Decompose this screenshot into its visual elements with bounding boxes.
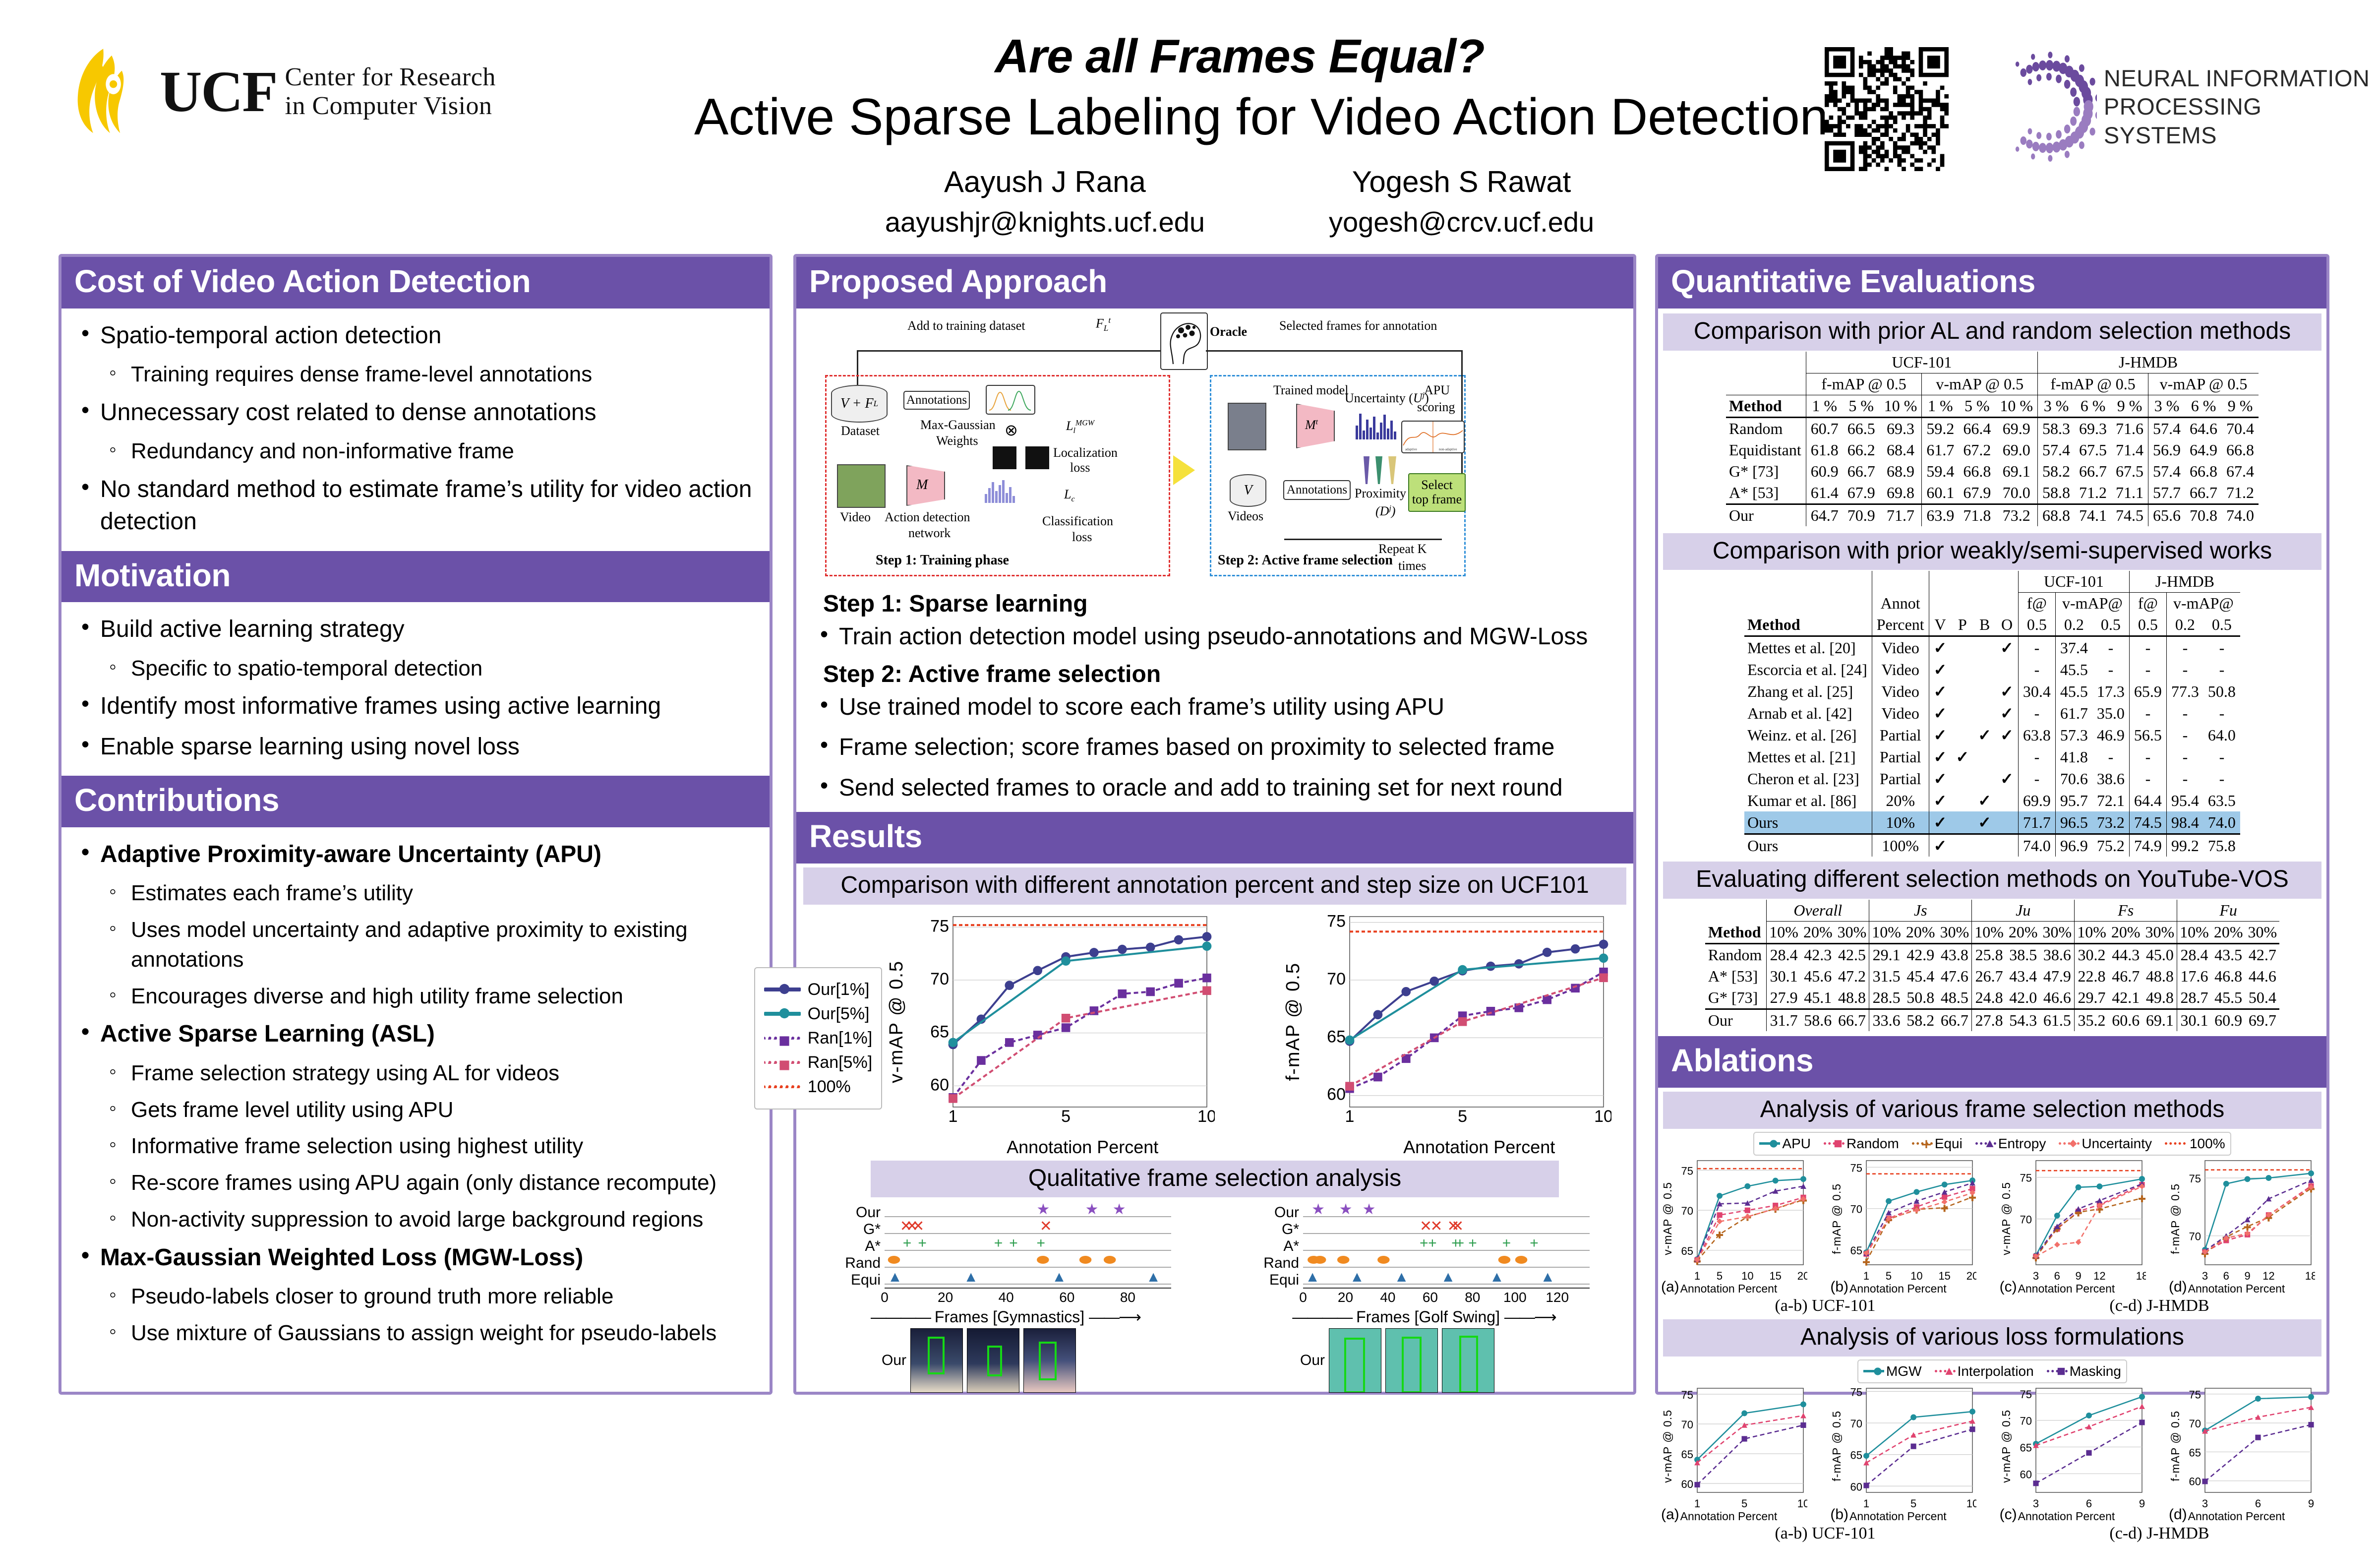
svg-text:3: 3	[2202, 1270, 2208, 1281]
author-1: Aayush J Rana aayushjr@knights.ucf.edu	[885, 165, 1205, 238]
qual-row-label: Equi	[1255, 1272, 1299, 1289]
diagram-lc-label: Lc	[1064, 487, 1075, 504]
diagram-top-frame-label: top frame	[1412, 493, 1462, 507]
qual-left-xlabel: ———— Frames [Gymnastics] ——⟶	[837, 1307, 1174, 1326]
th-threshold: 0.5	[2092, 614, 2130, 636]
table-row: Equidistant61.866.268.461.767.269.057.46…	[1726, 439, 2259, 461]
cell-value: -	[2129, 702, 2166, 724]
th-percent: 3 %	[2148, 395, 2186, 417]
cell-flag	[1996, 659, 2018, 680]
qual-left-thumbs: Our	[882, 1328, 1174, 1393]
th-percent: 10%	[1869, 922, 1904, 944]
section-header-results: Results	[796, 812, 1633, 864]
bullet-item: Use trained model to score each frame’s …	[815, 691, 1624, 723]
cell-value: 17.3	[2092, 680, 2130, 702]
cell-flag	[1973, 768, 1996, 790]
bullet-item: No standard method to estimate frame’s u…	[76, 473, 755, 538]
cell-method: G* [73]	[1705, 987, 1767, 1009]
qual-marker: +	[1009, 1236, 1018, 1251]
cell-method: Escorcia et al. [24]	[1744, 659, 1872, 680]
poster-subtitle-question: Are all Frames Equal?	[694, 30, 1785, 83]
cell-value: 58.8	[2038, 482, 2075, 504]
cell-value: -	[2166, 702, 2203, 724]
author-1-name: Aayush J Rana	[885, 165, 1205, 199]
cell-value: 64.9	[2185, 439, 2222, 461]
th-percent: 30%	[1938, 922, 1972, 944]
diagram-tensor-product-icon: ⊗	[1005, 421, 1018, 439]
table-prior-al-host: UCF-101 J-HMDBf-mAP @ 0.5v-mAP @ 0.5f-mA…	[1658, 352, 2326, 526]
cell-value: 67.2	[1959, 439, 1995, 461]
approach-diagram: Add to training dataset FLt Oracle Selec…	[818, 315, 1611, 583]
svg-text:1: 1	[1345, 1107, 1355, 1126]
svg-text:9: 9	[2244, 1270, 2250, 1281]
cell-value: 43.4	[2006, 966, 2040, 987]
step2-title: Step 2: Active frame selection	[823, 661, 1624, 688]
diagram-localization-label: Localization	[1053, 445, 1118, 460]
step2-bullet-list: Use trained model to score each frame’s …	[815, 691, 1624, 804]
th-percent: 10%	[2075, 922, 2109, 944]
svg-text:70: 70	[2020, 1415, 2031, 1427]
th-group: Js	[1869, 900, 1972, 922]
th-threshold: 0.5	[2203, 614, 2240, 636]
qr-code-icon[interactable]	[1825, 47, 1949, 171]
ucf-pegasus-icon	[64, 45, 149, 139]
legend-entry: 100%	[764, 1077, 872, 1097]
cell-value: 42.3	[1801, 944, 1835, 966]
ablation-xlabel: Annotation Percent	[2018, 1282, 2115, 1296]
qual-x-tick: 20	[1338, 1290, 1353, 1305]
svg-text:10: 10	[1197, 1107, 1215, 1126]
th-metric: f-mAP @ 0.5	[1806, 373, 1922, 395]
ablation-ylabel: v-mAP @ 0.5	[1661, 1182, 1674, 1255]
ablation-tag: (b)	[1830, 1279, 1848, 1296]
th-percent-label: Percent	[1872, 614, 1929, 636]
legend-entry: APU	[1759, 1136, 1811, 1152]
cell-value: -	[2018, 636, 2055, 659]
cell-value: 66.5	[1843, 417, 1880, 439]
table-row: Ours 10%✓✓71.796.573.274.598.474.0	[1744, 811, 2240, 834]
table-row: A* [53]30.145.647.231.545.447.626.743.44…	[1705, 966, 2279, 987]
ucf-tagline-1: Center for Research	[285, 63, 496, 92]
bullet-item: Max-Gaussian Weighted Loss (MGW-Loss)	[76, 1241, 755, 1274]
table-row: Our64.770.971.763.971.873.268.874.174.56…	[1726, 504, 2259, 526]
qual-marker: ⬬	[888, 1253, 900, 1268]
diagram-v-cylinder: V	[1230, 474, 1266, 507]
cell-value: 60.1	[1922, 482, 1959, 504]
svg-text:75: 75	[2020, 1388, 2031, 1400]
cell-flag	[1951, 834, 1973, 857]
ablation-row-selection: v-mAP @ 0.5 65707515101520 (a) Annotatio…	[1658, 1157, 2326, 1296]
svg-text:5: 5	[1741, 1497, 1747, 1508]
cell-value: 56.5	[2129, 724, 2166, 746]
cell-value: -	[2203, 636, 2240, 659]
cell-value: 69.7	[2245, 1009, 2279, 1032]
svg-text:65: 65	[1850, 1244, 1862, 1257]
cell-value: 67.9	[1959, 482, 1995, 504]
qual-marker: ▲	[1305, 1270, 1320, 1285]
cell-value: 69.9	[1995, 417, 2037, 439]
svg-text:15: 15	[1939, 1270, 1951, 1281]
qual-x-tick: 0	[881, 1290, 889, 1305]
svg-text:3: 3	[2033, 1497, 2039, 1508]
chart-vmap-container: v-mAP @ 0.5 606570751510 Annotation Perc…	[886, 908, 1279, 1158]
cell-value: 71.1	[2111, 482, 2148, 504]
th-annot: Annot	[1872, 593, 1929, 615]
cell-annot-percent: 100%	[1872, 834, 1929, 857]
cell-value: 69.1	[2143, 1009, 2177, 1032]
svg-text:1: 1	[1694, 1270, 1700, 1281]
svg-text:75: 75	[1850, 1162, 1862, 1174]
cell-value: 57.4	[2148, 461, 2186, 482]
table-row: Arnab et al. [42] Video✓✓-61.735.0---	[1744, 702, 2240, 724]
th-percent: 1 %	[1922, 395, 1959, 417]
cell-value: 66.7	[2185, 482, 2222, 504]
diagram-fl-label: FLt	[1096, 315, 1111, 333]
diagram-dataset-label: Dataset	[841, 424, 880, 438]
section-body-contributions: Adaptive Proximity-aware Uncertainty (AP…	[61, 827, 770, 1360]
diagram-selected-frames-label: Selected frames for annotation	[1279, 318, 1437, 333]
middle-column: Proposed Approach Add to training datase…	[793, 254, 1636, 1395]
qual-marker: ⬬	[1037, 1253, 1050, 1268]
cell-method: Cheron et al. [23]	[1744, 768, 1872, 790]
ablation-captions-2: (a-b) UCF-101 (c-d) J-HMDB	[1658, 1524, 2326, 1543]
qual-thumb	[1442, 1328, 1494, 1393]
cell-flag: ✓	[1996, 636, 2018, 659]
qual-row-label: G*	[837, 1221, 881, 1238]
legend-entry: 100%	[2165, 1136, 2225, 1152]
cell-value: 59.2	[1922, 417, 1959, 439]
qual-x-tick: 0	[1299, 1290, 1307, 1305]
cell-value: 24.8	[1972, 987, 2006, 1009]
cell-value: 69.3	[2075, 417, 2111, 439]
cell-value: 71.7	[1880, 504, 1922, 526]
cell-value: 46.8	[2211, 966, 2246, 987]
ablation-row-loss: v-mAP @ 0.5 606570751510 (a) Annotation …	[1658, 1384, 2326, 1523]
diagram-flow-arrow	[1173, 455, 1195, 485]
cell-flag: ✓	[1929, 680, 1951, 702]
bullet-item: Enable sparse learning using novel loss	[76, 731, 755, 763]
section-header-motivation: Motivation	[61, 551, 770, 603]
cell-value: 74.5	[2111, 504, 2148, 526]
cell-method: Mettes et al. [20]	[1744, 636, 1872, 659]
cell-value: 29.1	[1869, 944, 1904, 966]
bullet-item: Re-score frames using APU again (only di…	[76, 1168, 755, 1198]
cell-flag: ✓	[1996, 680, 2018, 702]
cell-value: 64.7	[1806, 504, 1843, 526]
cell-value: 74.0	[2018, 834, 2055, 857]
diagram-dataset-cylinder: V + FL	[831, 385, 888, 423]
chart-fmap: 606570751510	[1304, 908, 1611, 1136]
neurips-line-2: PROCESSING SYSTEMS	[2104, 92, 2380, 149]
cell-flag: ✓	[1973, 811, 1996, 834]
svg-text:75: 75	[2189, 1173, 2201, 1185]
cell-flag: ✓	[1996, 768, 2018, 790]
ablation-plot: 70753691218	[2182, 1157, 2315, 1281]
qual-marker: ▲	[963, 1270, 978, 1285]
ablation-ylabel: f-mAP @ 0.5	[1830, 1411, 1844, 1481]
svg-text:12: 12	[2093, 1270, 2105, 1281]
th-threshold: 0.5	[2018, 614, 2055, 636]
svg-text:70: 70	[1850, 1203, 1862, 1216]
bullet-item: Uses model uncertainty and adaptive prox…	[76, 915, 755, 975]
svg-text:10: 10	[1910, 1270, 1922, 1281]
qual-row-label: Rand	[837, 1255, 881, 1272]
qualitative-plot-golfswing: Our★★★G*✕✕✕✕A*+++++++Rand⬬⬬⬬⬬⬬⬬Equi▲▲▲▲▲…	[1255, 1198, 1593, 1309]
svg-text:10: 10	[1797, 1497, 1807, 1508]
qual-row-label: Our	[837, 1204, 881, 1221]
cell-value: 60.7	[1806, 417, 1843, 439]
table-row: Annot f@v-mAP@ f@v-mAP@	[1744, 593, 2240, 615]
cell-value: 54.3	[2006, 1009, 2040, 1032]
th-percent: 30%	[2040, 922, 2075, 944]
legend-label: Interpolation	[1958, 1363, 2034, 1379]
cell-value: 63.9	[1922, 504, 1959, 526]
cell-value: 26.7	[1972, 966, 2006, 987]
qual-marker: ★	[1113, 1202, 1126, 1217]
cell-value: 67.9	[1843, 482, 1880, 504]
cell-value: 27.9	[1767, 987, 1801, 1009]
cell-value: 45.4	[1904, 966, 1938, 987]
qual-marker: ▲	[1394, 1270, 1409, 1285]
poster-title: Active Sparse Labeling for Video Action …	[694, 86, 1785, 148]
cell-value: 28.4	[1767, 944, 1801, 966]
diagram-lmgw-label: LlMGW	[1066, 419, 1094, 435]
contributions-bullet-list: Adaptive Proximity-aware Uncertainty (AP…	[76, 838, 755, 1348]
cell-flag	[1951, 790, 1973, 811]
cell-value: 37.4	[2055, 636, 2092, 659]
bullet-item: Training requires dense frame-level anno…	[76, 360, 755, 389]
svg-text:5: 5	[1910, 1497, 1916, 1508]
cell-value: 65.9	[2129, 680, 2166, 702]
svg-text:70: 70	[930, 970, 949, 988]
diagram-videos-label: Videos	[1228, 509, 1263, 524]
cell-value: 74.9	[2129, 834, 2166, 857]
cell-value: -	[2092, 636, 2130, 659]
table-weakly-semi-host: UCF-101 J-HMDBAnnot f@v-mAP@ f@v-mAP@Met…	[1658, 571, 2326, 857]
svg-text:65: 65	[1681, 1448, 1693, 1461]
cell-value: 70.9	[1843, 504, 1880, 526]
cell-value: 50.8	[2203, 680, 2240, 702]
diagram-video-label: Video	[840, 510, 871, 525]
qual-marker: ▲	[1052, 1270, 1067, 1285]
svg-text:18: 18	[2305, 1270, 2315, 1281]
ablation-legend-loss: MGW Interpolation Masking	[1857, 1359, 2127, 1383]
bullet-item: Encourages diverse and high utility fram…	[76, 982, 755, 1011]
diagram-model-m-label: M	[916, 477, 928, 493]
legend-entry: Masking	[2047, 1363, 2121, 1379]
th-metric: v-mAP @ 0.5	[1922, 373, 2038, 395]
cell-value: 44.3	[2109, 944, 2143, 966]
th-threshold: 0.5	[2129, 614, 2166, 636]
cell-value: 44.6	[2245, 966, 2279, 987]
cell-flag	[1973, 680, 1996, 702]
legend-entry: Equi	[1912, 1136, 1963, 1152]
ablation-tag: (d)	[2169, 1279, 2187, 1296]
ablation-panel: f-mAP @ 0.5 606570751510 (b) Annotation …	[1830, 1384, 1985, 1523]
svg-text:70: 70	[1681, 1419, 1693, 1431]
neurips-line-1: NEURAL INFORMATION	[2104, 64, 2380, 92]
th-metric: v-mAP@	[2166, 593, 2240, 615]
svg-text:65: 65	[1327, 1027, 1346, 1046]
th-group: Fu	[2177, 900, 2279, 922]
qual-row-label: Equi	[837, 1272, 881, 1289]
ablation-panel: v-mAP @ 0.5 60657075369 (c) Annotation P…	[2000, 1384, 2154, 1523]
cell-value: 96.9	[2055, 834, 2092, 857]
bullet-item: Send selected frames to oracle and add t…	[815, 772, 1624, 804]
qual-right-thumbs: Our	[1300, 1328, 1593, 1393]
ablation-panel: f-mAP @ 0.5 65707515101520 (b) Annotatio…	[1830, 1157, 1985, 1296]
legend-entry: Ran[5%]	[764, 1053, 872, 1072]
motivation-bullet-list: Build active learning strategySpecific t…	[76, 613, 755, 763]
cell-method: A* [53]	[1705, 966, 1767, 987]
svg-text:10: 10	[1594, 1107, 1611, 1126]
cell-value: 69.3	[1880, 417, 1922, 439]
qual-row-line	[885, 1267, 1171, 1268]
qual-marker: ▲	[1441, 1270, 1456, 1285]
cell-value: 67.5	[2075, 439, 2111, 461]
th-method: Method	[1726, 395, 1806, 417]
cell-value: 50.4	[2245, 987, 2279, 1009]
cell-annot-percent: 10%	[1872, 811, 1929, 834]
bullet-item: Spatio-temporal action detection	[76, 319, 755, 352]
ucf-abbr: UCF	[160, 65, 277, 119]
cell-value: 30.1	[1767, 966, 1801, 987]
ablation-tag: (c)	[2000, 1279, 2017, 1296]
cell-value: 66.2	[1843, 439, 1880, 461]
diagram-class-hist-icon	[985, 479, 1015, 503]
cell-flag: ✓	[1996, 724, 2018, 746]
svg-text:20: 20	[1966, 1270, 1976, 1281]
ablation-panel: v-mAP @ 0.5 70753691218 (c) Annotation P…	[2000, 1157, 2154, 1296]
cell-value: -	[2129, 746, 2166, 768]
cell-value: 71.8	[1959, 504, 1995, 526]
qual-row-label: G*	[1255, 1221, 1299, 1238]
svg-text:1: 1	[1863, 1270, 1869, 1281]
qual-marker: +	[1037, 1236, 1046, 1251]
cell-value: 70.6	[2055, 768, 2092, 790]
ablation-plot: 60657075369	[2013, 1384, 2146, 1508]
cell-value: 43.8	[1938, 944, 1972, 966]
svg-text:3: 3	[2033, 1270, 2039, 1281]
diagram-uncertainty-label: Uncertainty (Uj)	[1345, 391, 1429, 406]
qual-marker: +	[994, 1236, 1003, 1251]
title-block: Are all Frames Equal? Active Sparse Labe…	[694, 30, 1785, 238]
cost-bullet-list: Spatio-temporal action detectionTraining…	[76, 319, 755, 538]
cell-flag	[1951, 724, 1973, 746]
th-percent: 6 %	[2075, 395, 2111, 417]
results-chart-row: Our[1%] Our[5%] Ran[1%] Ran[5%] 100% v-m…	[796, 908, 1633, 1158]
qual-x-tick: 40	[999, 1290, 1014, 1305]
cell-flag	[1973, 702, 1996, 724]
ablation-ylabel: f-mAP @ 0.5	[2169, 1183, 2182, 1254]
cell-value: 60.9	[1806, 461, 1843, 482]
cell-value: 25.8	[1972, 944, 2006, 966]
caption-cd-2: (c-d) J-HMDB	[1992, 1524, 2326, 1543]
svg-text:60: 60	[930, 1075, 949, 1094]
table-row: Random60.766.569.359.266.469.958.369.371…	[1726, 417, 2259, 439]
svg-text:6: 6	[2255, 1497, 2261, 1508]
qual-marker: ★	[1037, 1202, 1050, 1217]
bullet-item: Identify most informative frames using a…	[76, 690, 755, 722]
qual-row-label: A*	[1255, 1238, 1299, 1255]
diagram-repeat-wire	[1284, 539, 1442, 540]
cell-value: 30.1	[2177, 1009, 2211, 1032]
cell-value: 61.8	[1806, 439, 1843, 461]
ablation-xlabel: Annotation Percent	[1680, 1510, 1778, 1523]
cell-flag	[1951, 702, 1973, 724]
cell-value: -	[2092, 659, 2130, 680]
author-2-email[interactable]: yogesh@crcv.ucf.edu	[1329, 206, 1594, 238]
legend-entry: Random	[1824, 1136, 1899, 1152]
cell-value: 74.0	[2203, 811, 2240, 834]
apu-curve-icon: adaptive non-adaptive	[1402, 422, 1464, 452]
ablation-plot: 65707515101520	[1844, 1157, 1976, 1281]
svg-text:6: 6	[2223, 1270, 2229, 1281]
qual-x-tick: 20	[938, 1290, 953, 1305]
qualitative-right: Our★★★G*✕✕✕✕A*+++++++Rand⬬⬬⬬⬬⬬⬬Equi▲▲▲▲▲…	[1255, 1198, 1593, 1393]
qual-marker: ★	[1085, 1202, 1099, 1217]
chart-vmap-xlabel: Annotation Percent	[886, 1137, 1279, 1158]
qual-marker: ⬬	[1079, 1253, 1092, 1268]
cell-flag: ✓	[1929, 790, 1951, 811]
svg-text:65: 65	[1850, 1449, 1862, 1461]
cell-flag	[1973, 746, 1996, 768]
cell-value: 49.8	[2143, 987, 2177, 1009]
cell-value: 71.4	[2111, 439, 2148, 461]
cell-value: 42.5	[1835, 944, 1869, 966]
author-1-email[interactable]: aayushjr@knights.ucf.edu	[885, 206, 1205, 238]
cell-value: 56.9	[2148, 439, 2186, 461]
qual-x-tick: 120	[1546, 1290, 1569, 1305]
svg-text:20: 20	[1797, 1270, 1807, 1281]
ablation-ylabel: f-mAP @ 0.5	[1830, 1183, 1844, 1254]
th-flag: P	[1951, 614, 1973, 636]
ablation-panel: f-mAP @ 0.5 60657075369 (d) Annotation P…	[2169, 1384, 2323, 1523]
cell-value: 42.0	[2006, 987, 2040, 1009]
table-row: G* [73]60.966.768.959.466.869.158.266.76…	[1726, 461, 2259, 482]
section-header-ablations: Ablations	[1658, 1036, 2326, 1088]
cell-value: -	[2092, 746, 2130, 768]
cell-flag: ✓	[1929, 834, 1951, 857]
qual-marker: ★	[1311, 1202, 1325, 1217]
qualitative-strip: Our★★★G*✕✕✕✕A*+++++Rand⬬⬬⬬⬬Equi▲▲▲▲02040…	[796, 1198, 1633, 1393]
svg-text:70: 70	[1327, 970, 1346, 988]
diagram-select-label: Select	[1421, 478, 1453, 493]
cell-value: 66.8	[2185, 461, 2222, 482]
cell-value: -	[2203, 702, 2240, 724]
bullet-item: Specific to spatio-temporal detection	[76, 654, 755, 683]
svg-text:75: 75	[1850, 1386, 1862, 1398]
bullet-item: Train action detection model using pseud…	[815, 620, 1624, 653]
cell-value: 71.2	[2075, 482, 2111, 504]
cell-annot-percent: Partial	[1872, 746, 1929, 768]
cell-value: -	[2203, 659, 2240, 680]
neurips-logo: NEURAL INFORMATION PROCESSING SYSTEMS	[1993, 50, 2380, 164]
quant-subhead-1: Comparison with prior AL and random sele…	[1663, 313, 2321, 351]
table-youtube-vos-host: OverallJsJuFsFuMethod10%20%30%10%20%30%1…	[1658, 900, 2326, 1031]
ablation-tag: (a)	[1661, 1279, 1679, 1296]
table-row: Weinz. et al. [26] Partial✓✓✓63.857.346.…	[1744, 724, 2240, 746]
qual-right-xlabel-text: Frames [Golf Swing]	[1356, 1308, 1500, 1326]
cell-value: 57.3	[2055, 724, 2092, 746]
table-row: Ours 100%✓74.096.975.274.999.275.8	[1744, 834, 2240, 857]
svg-text:1: 1	[949, 1107, 958, 1126]
legend-entry: Our[5%]	[764, 1004, 872, 1024]
cell-value: 45.6	[1801, 966, 1835, 987]
diagram-gauss-curve-box	[986, 385, 1035, 415]
diagram-select-top-frame-box: Select top frame	[1408, 473, 1466, 512]
diagram-model-mt-label: Mt	[1305, 418, 1318, 432]
